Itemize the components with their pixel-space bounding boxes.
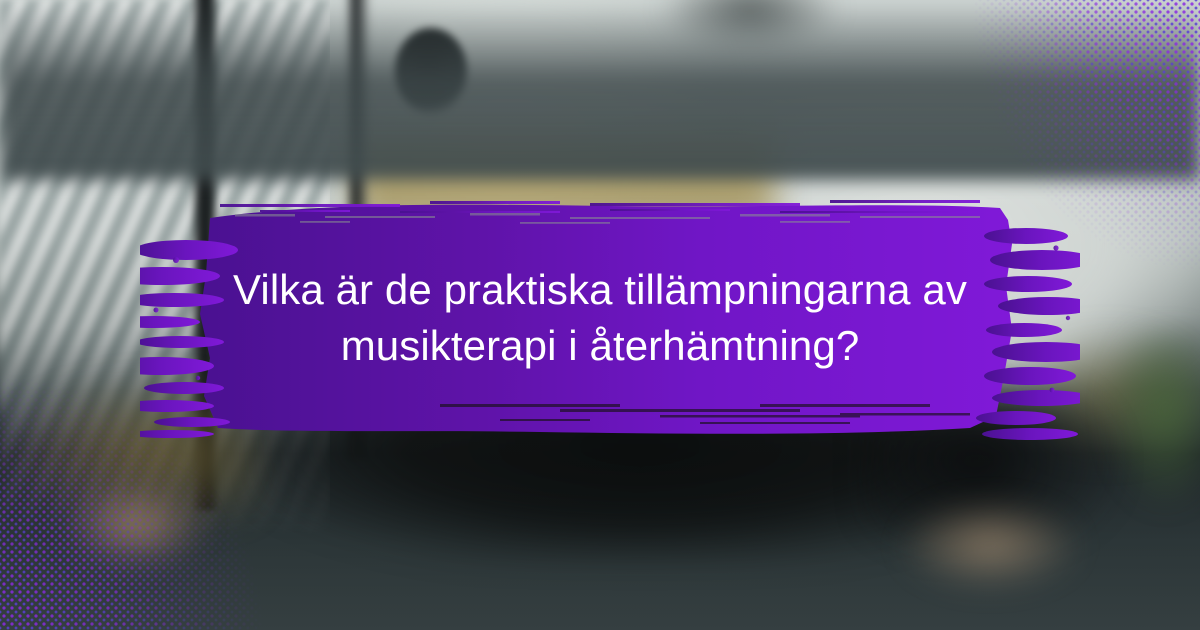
social-card: Vilka är de praktiska tillämpningarna av…	[0, 0, 1200, 630]
page-title: Vilka är de praktiska tillämpningarna av…	[0, 262, 1200, 374]
